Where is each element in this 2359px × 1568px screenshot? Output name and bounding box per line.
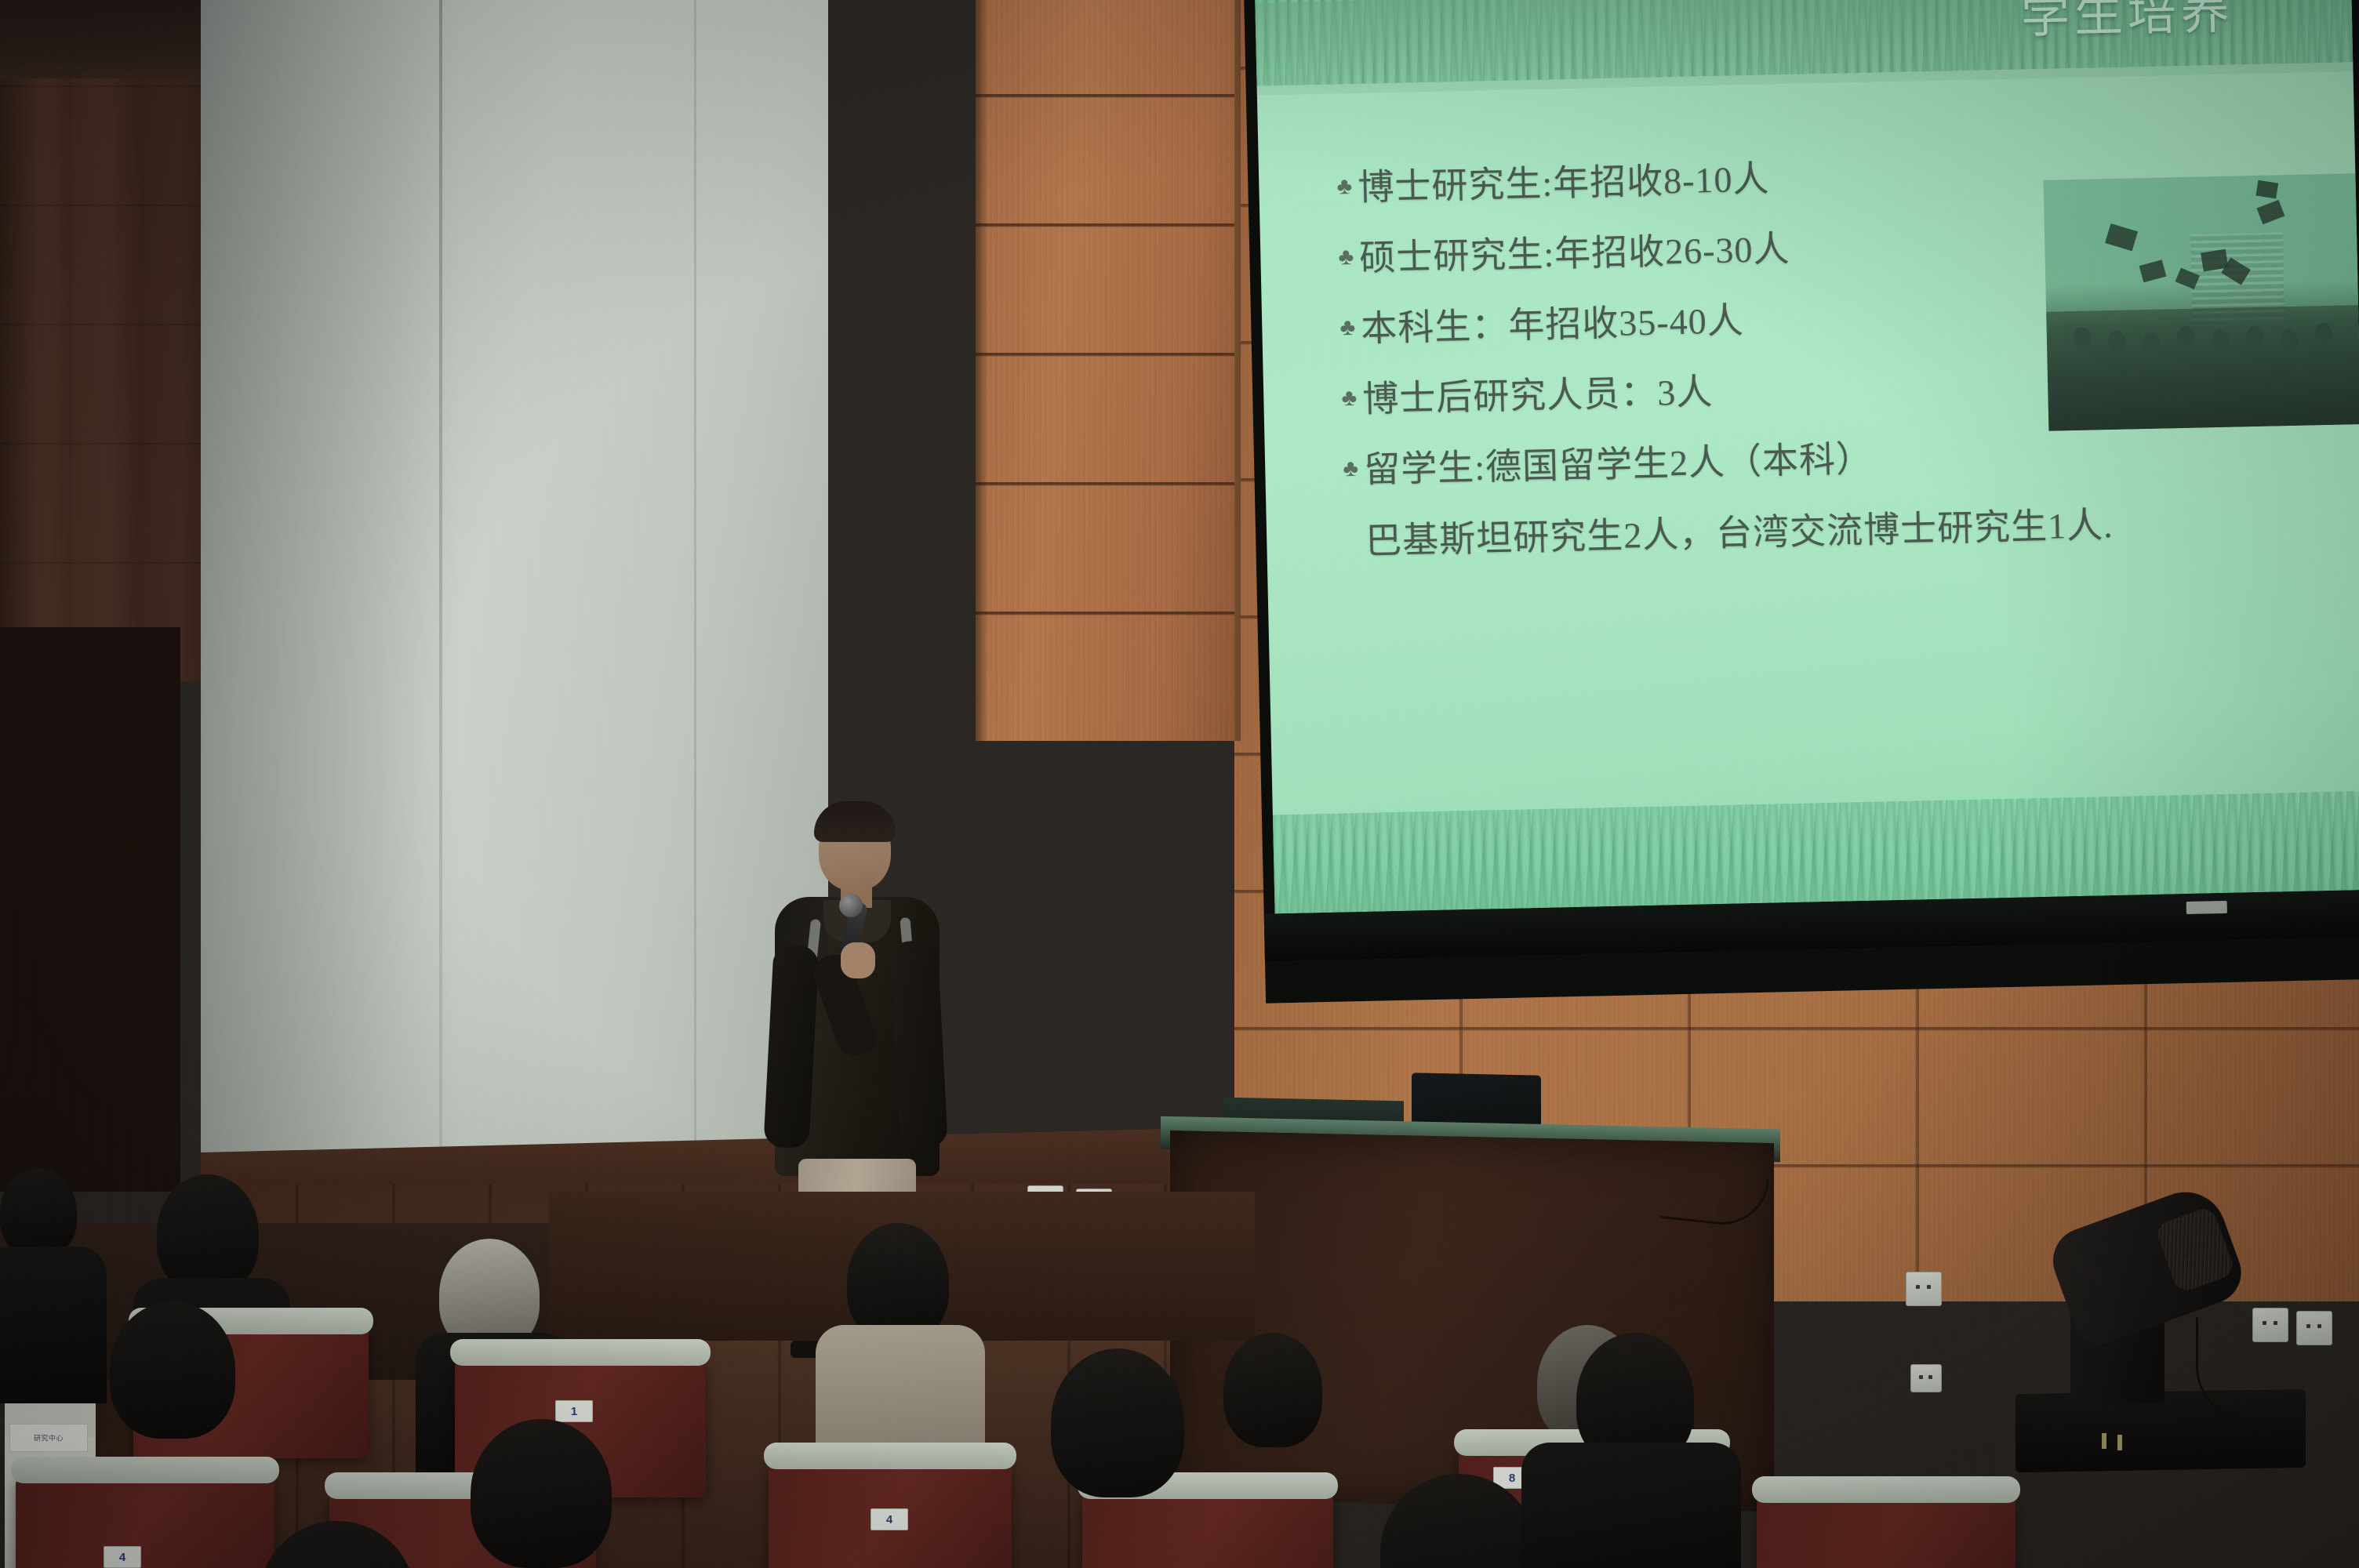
audience-member: [157, 1174, 259, 1292]
wall-socket-plate[interactable]: [1910, 1364, 1942, 1392]
photo-person: [2074, 327, 2092, 347]
photo-person: [2212, 330, 2230, 350]
table-row[interactable]: [1757, 1494, 2016, 1568]
bullet-text: 博士研究生:年招收8-10人: [1358, 157, 1770, 209]
list-item: ♣ 博士后研究人员：3人: [1336, 361, 2128, 423]
audience-member: [0, 1168, 77, 1256]
screen-pull-tab[interactable]: [2186, 901, 2227, 914]
seat-number: 4: [104, 1546, 141, 1568]
audience-member-body: [0, 1247, 107, 1403]
photo-person: [2177, 326, 2195, 347]
seat-number: 4: [871, 1508, 908, 1530]
audience-member-front: [471, 1419, 612, 1568]
bullet-continuation-text: 巴基斯坦研究生2人，台湾交流博士研究生1人.: [1365, 502, 2132, 564]
left-wood-wall-seams: [0, 78, 205, 682]
bullet-text: 硕士研究生:年招收26-30人: [1359, 227, 1790, 281]
projection-screen: 学生培养 ♣ 博士研究生:年招收8-10人 ♣ 硕士研究生:年招收26-30人 …: [1244, 0, 2359, 1004]
exterior-sign-text: 研究中心: [34, 1433, 64, 1443]
wall-shading: [201, 0, 460, 1223]
outlet-hole: [1916, 1285, 1920, 1289]
bullet-text: 留学生:德国留学生2人（本科）: [1364, 437, 1874, 492]
table-row[interactable]: 4: [769, 1460, 1012, 1568]
outlet-hole: [2306, 1324, 2310, 1328]
slide-bullet-list: ♣ 博士研究生:年招收8-10人 ♣ 硕士研究生:年招收26-30人 ♣ 本科生…: [1331, 150, 2132, 565]
exterior-sign: 研究中心: [9, 1424, 88, 1452]
microphone-capsule-icon: [839, 894, 863, 917]
outlet-hole: [1919, 1375, 1923, 1379]
stage-light-led: [2102, 1433, 2106, 1449]
slide-title: 学生培养: [2020, 0, 2234, 41]
photo-person: [2143, 333, 2161, 354]
seat-headrest: [1752, 1476, 2020, 1503]
bullet-text: 本科生：年招收35-40人: [1361, 299, 1744, 351]
wall-socket-plate[interactable]: [2296, 1311, 2332, 1345]
bullet-text: 博士后研究人员：3人: [1362, 370, 1714, 422]
photo-person: [2281, 330, 2299, 350]
bullet-marker-icon: ♣: [1337, 448, 1365, 490]
list-item: ♣ 硕士研究生:年招收26-30人: [1332, 220, 2125, 281]
photo-person: [2315, 323, 2333, 343]
graduation-cap-icon: [2256, 200, 2284, 224]
audience-member: [847, 1223, 949, 1341]
audience-member-body: [1521, 1443, 1741, 1568]
graduation-cap-icon: [2255, 180, 2278, 199]
wall-seam-left: [439, 0, 442, 1223]
audience-member-front: [110, 1301, 235, 1439]
audience-member-front: [1051, 1348, 1184, 1497]
bullet-marker-icon: ♣: [1334, 307, 1361, 349]
outlet-hole: [2317, 1324, 2321, 1328]
presenter-hand: [841, 942, 875, 978]
seat-number: 1: [555, 1400, 593, 1422]
stage-light-led: [2117, 1435, 2122, 1450]
list-item: ♣ 留学生:德国留学生2人（本科）: [1337, 432, 2130, 493]
doorway-frame: 研究中心: [0, 627, 180, 1192]
table-row[interactable]: 4: [16, 1474, 274, 1568]
wall-seam-right: [694, 0, 696, 1223]
screen-surface: 学生培养 ♣ 博士研究生:年招收8-10人 ♣ 硕士研究生:年招收26-30人 …: [1255, 0, 2359, 913]
outlet-hole: [1927, 1285, 1931, 1289]
graduation-cap-icon: [2105, 223, 2138, 251]
graduation-photo: [2043, 173, 2359, 431]
presenter-hair: [814, 801, 896, 842]
photo-person: [2108, 331, 2126, 351]
photo-person: [2246, 326, 2264, 347]
wood-pilaster: [976, 0, 1234, 741]
seat-headrest: [450, 1339, 711, 1366]
seat-headrest: [764, 1443, 1016, 1469]
list-item: ♣ 博士研究生:年招收8-10人: [1331, 150, 2124, 211]
audience-member: [1223, 1333, 1322, 1447]
seat-headrest: [11, 1457, 279, 1483]
wall-socket-plate[interactable]: [1906, 1272, 1942, 1306]
wood-pilaster-edge: [976, 0, 988, 741]
bullet-marker-icon: ♣: [1336, 378, 1363, 419]
graduation-cap-icon: [2139, 260, 2167, 282]
bullet-marker-icon: ♣: [1332, 237, 1360, 278]
list-item: ♣ 本科生：年招收35-40人: [1334, 291, 2127, 352]
table-row[interactable]: [1082, 1490, 1333, 1568]
lecture-hall-photo: 研究中心 学生培养 ♣ 博士研究生:年招收8-10人 ♣ 硕士: [0, 0, 2359, 1568]
bullet-marker-icon: ♣: [1331, 166, 1358, 208]
outlet-hole: [1928, 1375, 1932, 1379]
photo-crowd: [2046, 305, 2359, 431]
